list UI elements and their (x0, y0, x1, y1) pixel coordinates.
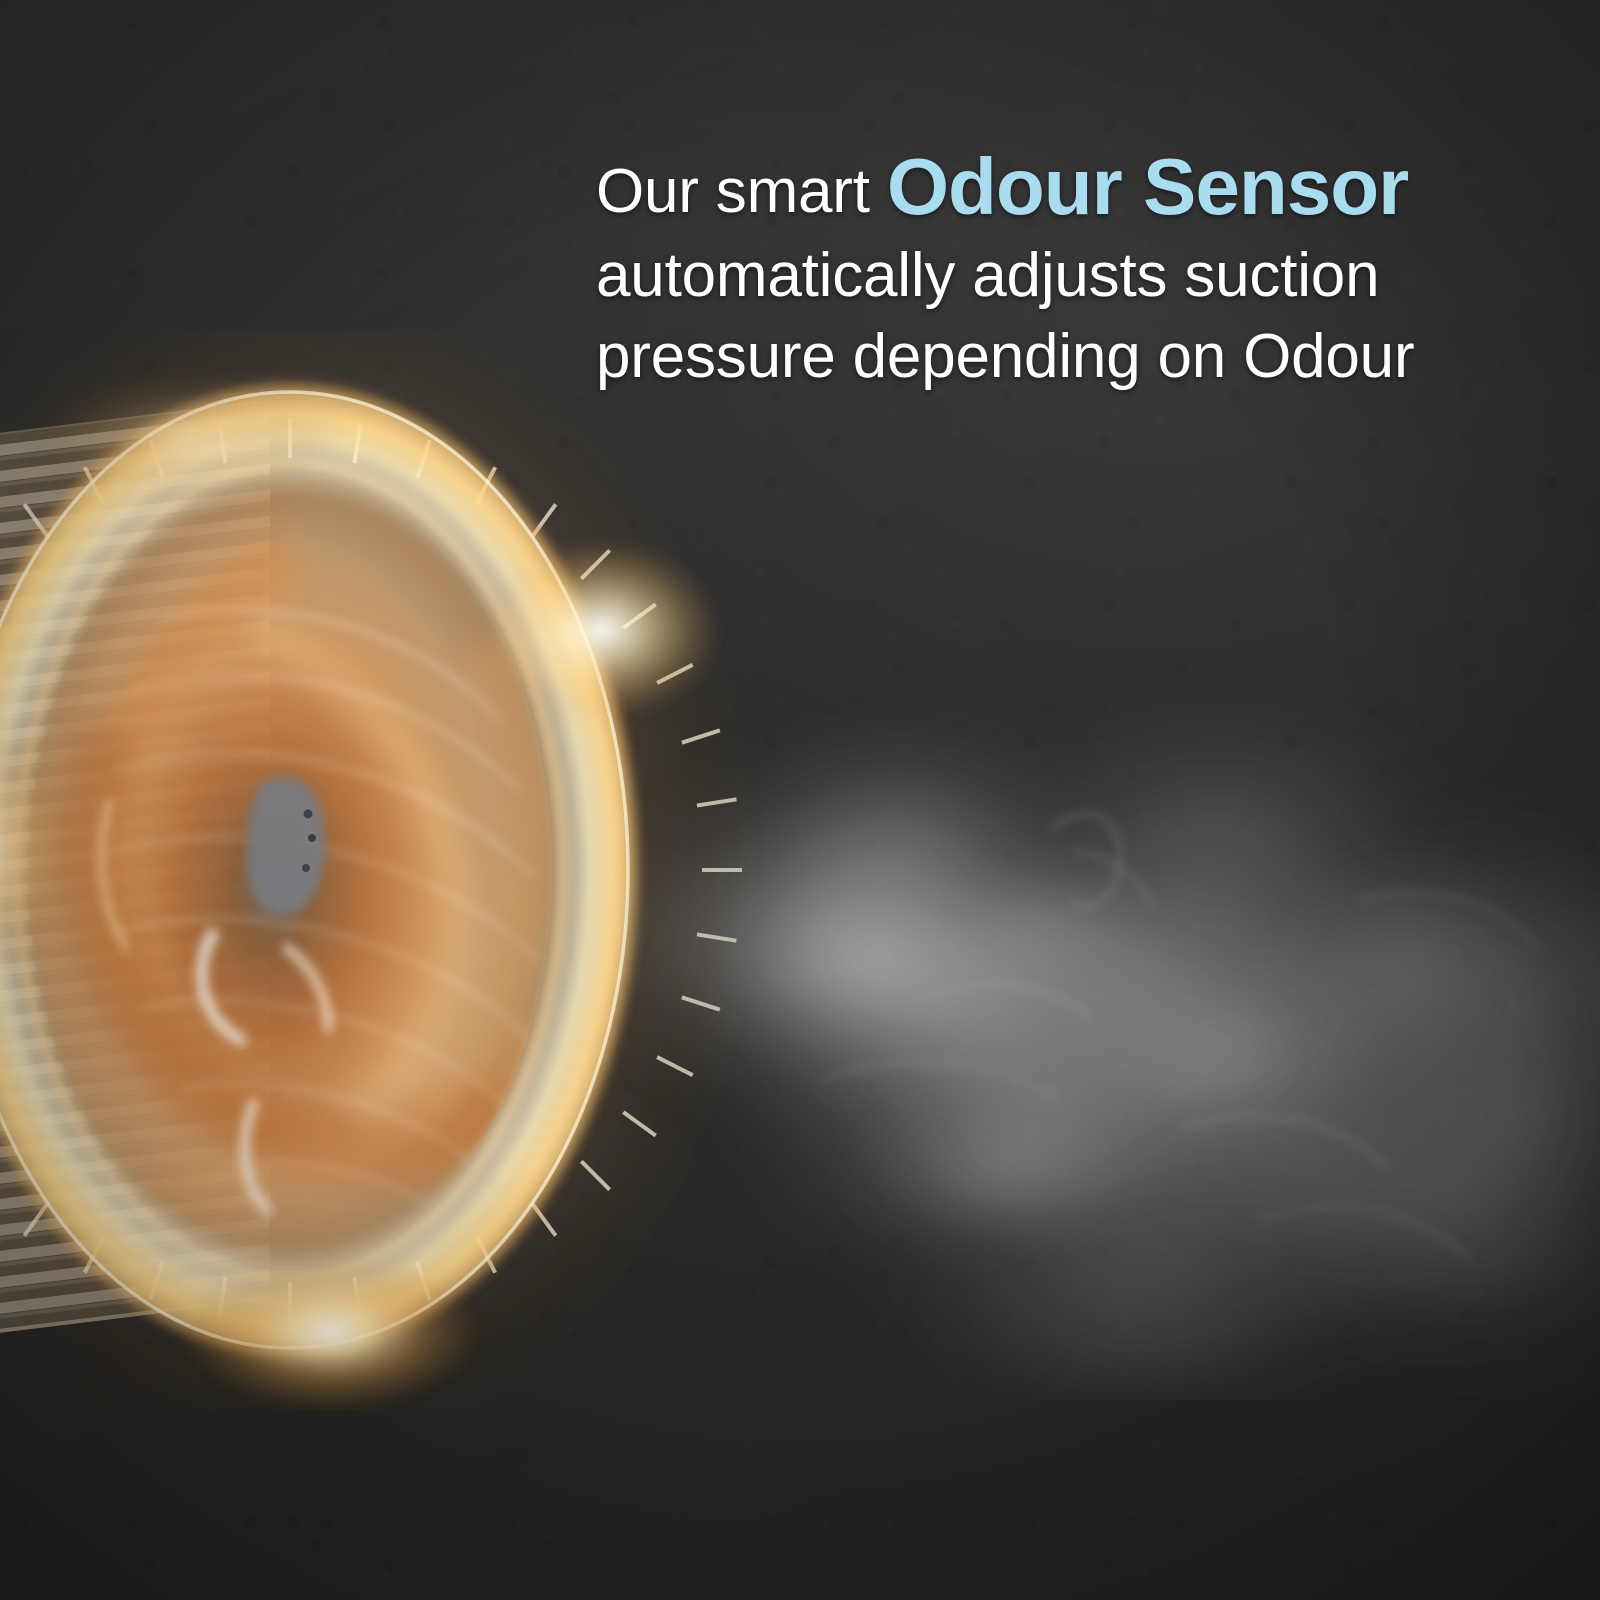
hotspot-bottom (180, 1252, 480, 1410)
hotspot-right (482, 538, 722, 722)
headline-line-2: automatically adjusts suction (596, 244, 1556, 307)
headline-prefix: Our smart (596, 157, 887, 226)
headline-block: Our smart Odour Sensor automatically adj… (596, 146, 1556, 388)
headline-line-1: Our smart Odour Sensor (596, 146, 1556, 228)
turbine-fan-svg (0, 330, 820, 1410)
turbine-fan-graphic (0, 330, 820, 1410)
headline-accent-odour-sensor: Odour Sensor (887, 142, 1408, 231)
promo-canvas: Our smart Odour Sensor automatically adj… (0, 0, 1600, 1600)
headline-line-3: pressure depending on Odour (596, 325, 1556, 388)
hotspot-top (40, 380, 340, 500)
